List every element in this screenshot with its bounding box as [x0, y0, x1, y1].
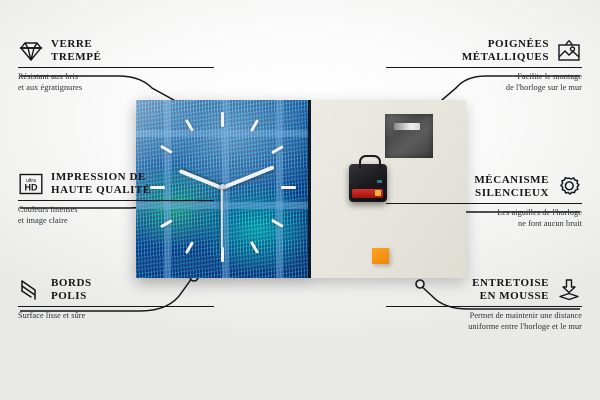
feature-title: BORDS POLIS: [51, 277, 92, 302]
diamond-icon: [18, 39, 44, 63]
feature-title: VERRE TREMPÉ: [51, 38, 101, 63]
feature-title: ENTRETOISE EN MOUSSE: [472, 277, 549, 302]
foam-spacer-arrow-icon: [556, 278, 582, 302]
hanger-keyhole-slot: [394, 123, 420, 130]
battery-terminal: [375, 190, 381, 196]
polished-edges-icon: [18, 278, 44, 302]
feature-header: ultra HD IMPRESSION DE HAUTE QUALITÉ: [18, 171, 214, 196]
hour-tick: [281, 186, 296, 189]
feature-header: VERRE TREMPÉ: [18, 38, 214, 63]
metal-hanger-plate: [385, 114, 433, 158]
divider: [18, 306, 214, 307]
feature-mecanisme-silencieux: MÉCANISME SILENCIEUX Les aiguilles de l'…: [386, 174, 582, 229]
feature-title: IMPRESSION DE HAUTE QUALITÉ: [51, 171, 151, 196]
feature-subtitle: Les aiguilles de l'horloge ne font aucun…: [386, 208, 582, 229]
center-pin: [220, 184, 225, 189]
feature-bords-polis: BORDS POLIS Surface lisse et sûre: [18, 277, 214, 322]
clock-mechanism: [349, 164, 387, 202]
battery: [352, 189, 383, 198]
feature-subtitle: Couleurs intenses et image claire: [18, 205, 214, 226]
divider: [18, 200, 214, 201]
feature-header: ENTRETOISE EN MOUSSE: [386, 277, 582, 302]
feature-poignees-metalliques: POIGNÉES MÉTALLIQUES Facilite le montage…: [386, 38, 582, 93]
second-hand: [221, 188, 223, 250]
mechanism-label: [377, 180, 382, 183]
feature-header: BORDS POLIS: [18, 277, 214, 302]
infographic-stage: VERRE TREMPÉ Résistant aux bris et aux é…: [0, 0, 600, 400]
divider: [386, 203, 582, 204]
feature-entretoise-en-mousse: ENTRETOISE EN MOUSSE Permet de maintenir…: [386, 277, 582, 332]
feature-title: POIGNÉES MÉTALLIQUES: [462, 38, 549, 63]
divider: [386, 67, 582, 68]
feature-subtitle: Résistant aux bris et aux égratignures: [18, 72, 214, 93]
ultra-hd-icon: ultra HD: [18, 172, 44, 196]
hour-tick: [221, 112, 224, 127]
hanger-loop: [359, 155, 381, 168]
feature-subtitle: Surface lisse et sûre: [18, 311, 214, 322]
feature-verre-trempe: VERRE TREMPÉ Résistant aux bris et aux é…: [18, 38, 214, 93]
divider: [18, 67, 214, 68]
feature-subtitle: Permet de maintenir une distance uniform…: [386, 311, 582, 332]
feature-header: MÉCANISME SILENCIEUX: [386, 174, 582, 199]
svg-text:HD: HD: [25, 182, 38, 192]
feature-title: MÉCANISME SILENCIEUX: [474, 174, 549, 199]
feature-impression-haute-qualite: ultra HD IMPRESSION DE HAUTE QUALITÉ Cou…: [18, 171, 214, 226]
feature-subtitle: Facilite le montage de l'horloge sur le …: [386, 72, 582, 93]
feature-header: POIGNÉES MÉTALLIQUES: [386, 38, 582, 63]
picture-hanger-icon: [556, 39, 582, 63]
gear-icon: [556, 175, 582, 199]
divider: [386, 306, 582, 307]
foam-spacer: [372, 248, 389, 264]
